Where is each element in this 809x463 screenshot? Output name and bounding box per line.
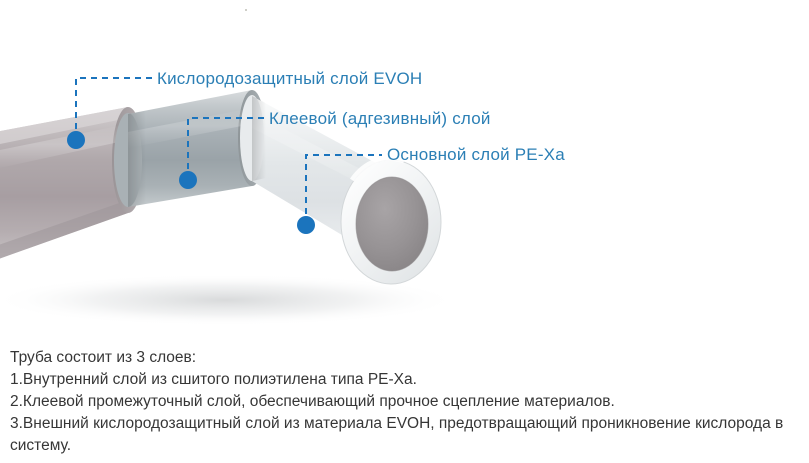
callout-label-evoh: Кислородозащитный слой EVOH (157, 70, 422, 87)
description-item-1: 1.Внутренний слой из сшитого полиэтилена… (10, 369, 805, 391)
callout-label-adhesive: Клеевой (адгезивный) слой (269, 110, 491, 127)
description-intro: Труба состоит из 3 слоев: (10, 347, 805, 369)
callout-dot-adhesive (179, 171, 197, 189)
callout-label-pexa: Основной слой PE-Xa (387, 146, 565, 163)
pipe-layers-infographic: Кислородозащитный слой EVOH Клеевой (адг… (0, 0, 809, 463)
description-block: Труба состоит из 3 слоев: 1.Внутренний с… (10, 347, 805, 457)
description-item-2: 2.Клеевой промежуточный слой, обеспечива… (10, 391, 805, 413)
pipe-illustration (0, 0, 809, 333)
callout-dot-evoh (67, 131, 85, 149)
description-item-3: 3.Внешний кислородозащитный слой из мате… (10, 413, 805, 457)
callout-dot-pexa (297, 216, 315, 234)
pipe-open-end (341, 158, 441, 284)
pipe-figure: Кислородозащитный слой EVOH Клеевой (адг… (0, 0, 809, 333)
